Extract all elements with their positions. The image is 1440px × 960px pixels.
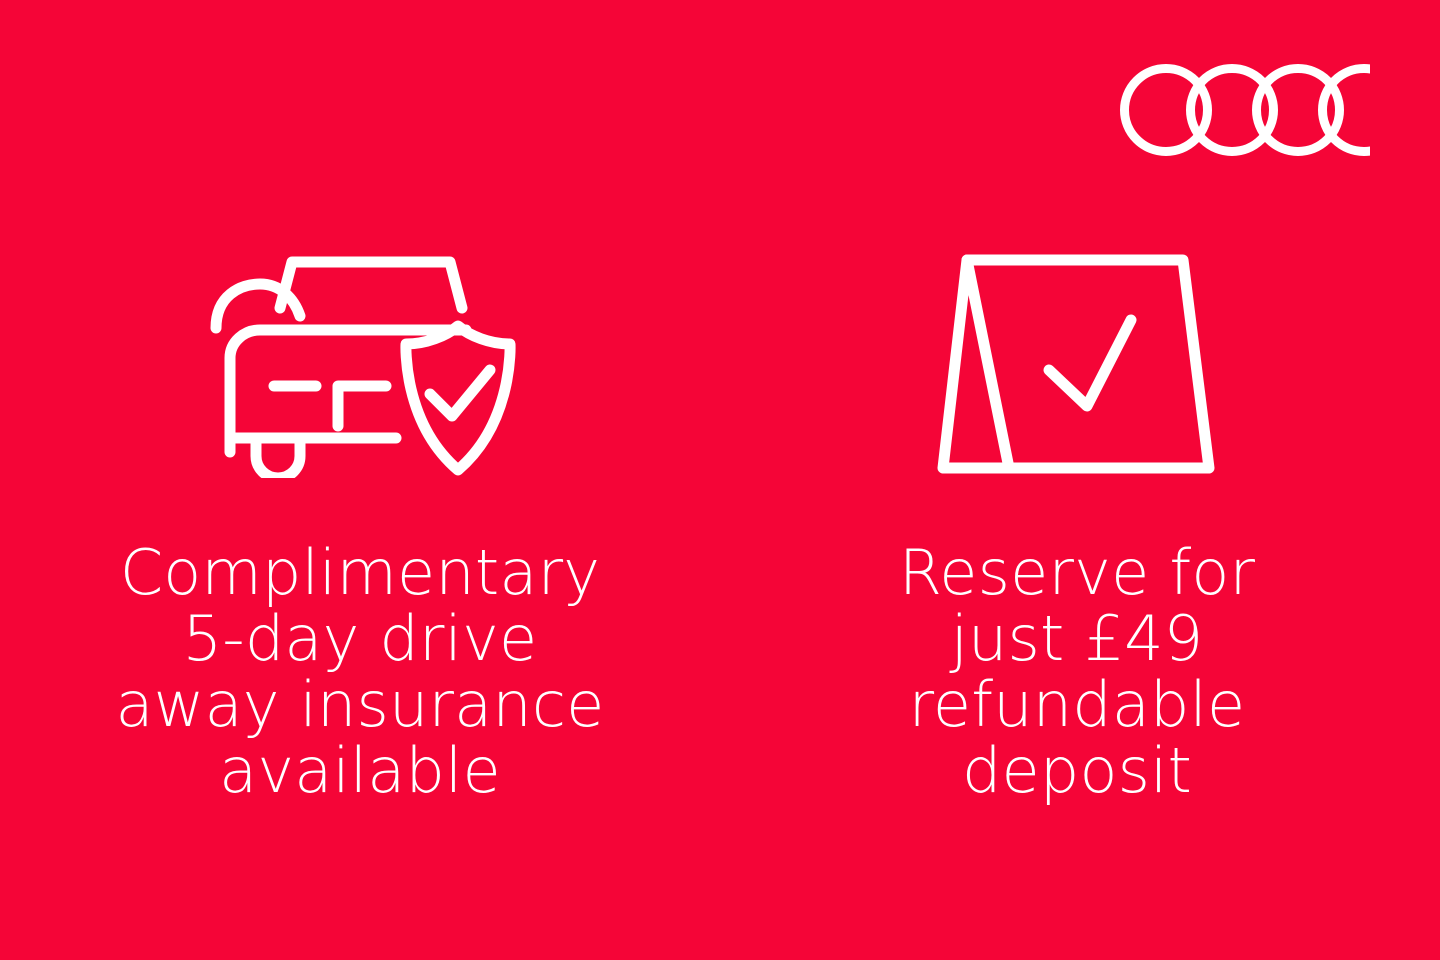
car-pillar — [338, 386, 386, 426]
folded-card-check-icon — [945, 246, 1215, 478]
shield-check — [430, 370, 490, 416]
car-with-shield-check-icon — [200, 246, 520, 478]
car-roof — [280, 262, 462, 308]
feature-insurance-caption: Complimentary 5-day drive away insurance… — [80, 540, 640, 804]
feature-deposit: Reserve for just £49 refundable deposit — [720, 0, 1440, 804]
card-check — [1049, 320, 1131, 406]
shield-outline — [406, 326, 510, 470]
feature-list: Complimentary 5-day drive away insurance… — [0, 0, 1440, 960]
car-fender-arc — [216, 284, 300, 328]
car-shield-svg — [208, 246, 520, 478]
promo-banner: Complimentary 5-day drive away insurance… — [0, 0, 1440, 960]
feature-deposit-caption: Reserve for just £49 refundable deposit — [842, 540, 1312, 804]
car-wheel — [256, 438, 300, 478]
tent-check-svg — [935, 246, 1215, 478]
feature-insurance: Complimentary 5-day drive away insurance… — [0, 0, 720, 804]
card-main-panel — [967, 260, 1209, 468]
